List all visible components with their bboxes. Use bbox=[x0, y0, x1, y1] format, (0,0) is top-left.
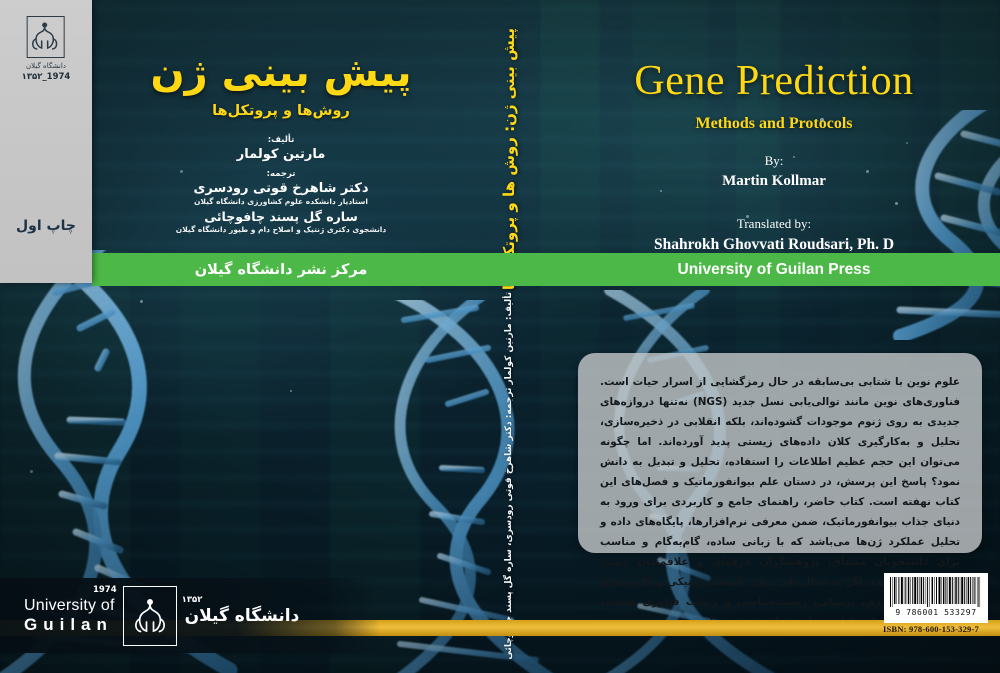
guilan-emblem-icon bbox=[27, 16, 65, 58]
publisher-band-front: University of Guilan Press bbox=[548, 253, 1000, 286]
barcode-digits: 9 786001 533297 bbox=[889, 608, 983, 617]
translator-1-name-en: Shahrokh Ghovvati Roudsari, Ph. D bbox=[548, 236, 1000, 254]
barcode: 9 786001 533297 bbox=[884, 573, 988, 623]
spine-authors-fa: تألیف: مارتین کولمار ترجمه: دکتر شاهرخ ق… bbox=[504, 292, 514, 660]
spine-title-wrap: پیش بینی ژن: روش ها و پروتکل ها bbox=[500, 28, 518, 243]
barcode-bars-icon bbox=[889, 577, 983, 607]
publisher-logo-fa: ۱۳۵۲ دانشگاه گیلان bbox=[185, 606, 300, 626]
publisher-logo-en: 1974 University of Guilan bbox=[24, 597, 115, 634]
flap-university-name-fa: دانشگاه گیلان bbox=[22, 62, 71, 70]
publisher-logo-plate: 1974 University of Guilan ۱۳۵۲ دانشگاه گ… bbox=[0, 578, 380, 653]
spine-title-fa: پیش بینی ژن: روش ها و پروتکل ها bbox=[500, 28, 518, 290]
edition-label: چاپ اول bbox=[0, 218, 92, 234]
translator-2-name-fa: ساره گل پسند چافوچائی bbox=[92, 209, 470, 224]
cover-flap: دانشگاه گیلان ۱۳۵۲_1974 چاپ اول bbox=[0, 0, 92, 283]
translator-1-affiliation-fa: استادیار دانشکده علوم کشاورزی دانشگاه گی… bbox=[92, 197, 470, 206]
author-label-fa: تألیف: bbox=[92, 135, 470, 145]
flap-university-logo: دانشگاه گیلان ۱۳۵۲_1974 bbox=[22, 16, 71, 82]
publisher-year-fa: ۱۳۵۲ bbox=[182, 595, 203, 605]
author-name-fa: مارتین کولمار bbox=[92, 147, 470, 162]
back-cover-panel: پیش بینی ژن روش‌ها و پروتکل‌ها تألیف: ما… bbox=[92, 0, 470, 253]
publisher-year-en: 1974 bbox=[93, 586, 117, 596]
book-cover: دانشگاه گیلان ۱۳۵۲_1974 چاپ اول پیش بینی… bbox=[0, 0, 1000, 673]
translator-1-name-fa: دکتر شاهرخ قوتی رودسری bbox=[92, 181, 470, 196]
back-cover-blurb-box: علوم نوین با شتابی بی‌سابقه در حال رمزگش… bbox=[578, 353, 982, 553]
guilan-emblem-icon-large bbox=[123, 586, 177, 646]
translator-2-affiliation-fa: دانشجوی دکتری ژنتیک و اصلاح دام و طیور د… bbox=[92, 225, 470, 234]
book-title-en: Gene Prediction bbox=[548, 57, 1000, 105]
book-title-fa: پیش بینی ژن bbox=[92, 52, 470, 94]
publisher-name-en: University of Guilan Press bbox=[548, 253, 1000, 286]
book-subtitle-en: Methods and Protocols bbox=[548, 115, 1000, 133]
spine-authors-wrap: تألیف: مارتین کولمار ترجمه: دکتر شاهرخ ق… bbox=[504, 292, 514, 660]
translator-label-fa: ترجمه: bbox=[92, 169, 470, 179]
publisher-logo-line1: University of bbox=[24, 597, 115, 615]
credits-fa: تألیف: مارتین کولمار ترجمه: دکتر شاهرخ ق… bbox=[92, 135, 470, 234]
publisher-band-spine bbox=[470, 253, 548, 286]
translator-label-en: Translated by: bbox=[548, 216, 1000, 232]
book-spine: پیش بینی ژن: روش ها و پروتکل ها تألیف: م… bbox=[470, 0, 548, 673]
isbn-strip: ISBN: 978-600-153-329-7 bbox=[862, 622, 1000, 635]
publisher-logo-line2: Guilan bbox=[24, 615, 115, 634]
publisher-band-back: مرکز نشر دانشگاه گیلان bbox=[92, 253, 470, 286]
book-subtitle-fa: روش‌ها و پروتکل‌ها bbox=[92, 103, 470, 119]
isbn-text: ISBN: 978-600-153-329-7 bbox=[883, 624, 979, 634]
front-cover-panel: Gene Prediction Methods and Protocols By… bbox=[548, 0, 1000, 253]
author-label-en: By: bbox=[548, 153, 1000, 169]
flap-founding-year: ۱۳۵۲_1974 bbox=[22, 72, 71, 82]
author-name-en: Martin Kollmar bbox=[548, 173, 1000, 190]
publisher-name-fa-logo: دانشگاه گیلان bbox=[185, 606, 300, 626]
publisher-name-fa: مرکز نشر دانشگاه گیلان bbox=[92, 253, 470, 286]
